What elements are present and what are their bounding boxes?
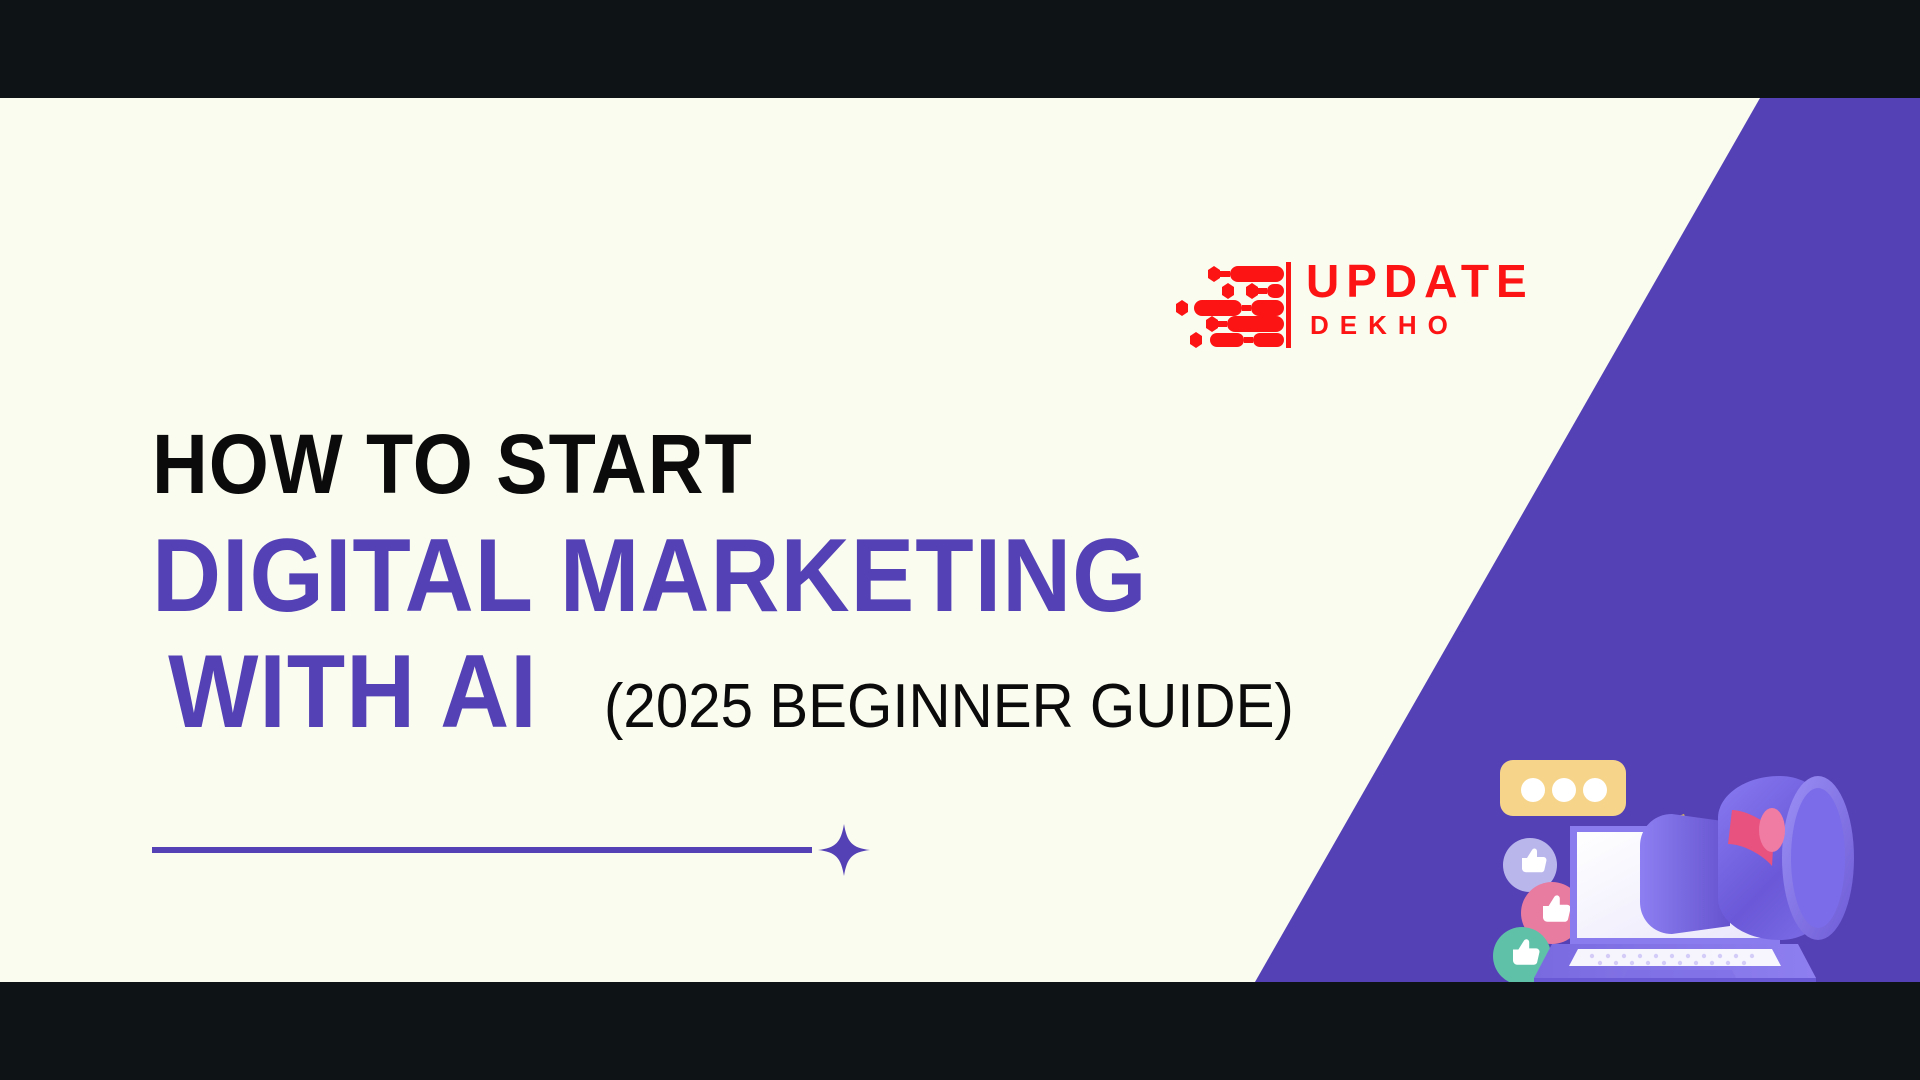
illustration-laptop-megaphone	[1470, 718, 1890, 982]
chat-bubble-icon	[1500, 760, 1626, 816]
brand-logo[interactable]: UPDATE DEKHO	[1170, 256, 1540, 348]
divider-svg	[152, 820, 872, 880]
headline-block: HOW TO START DIGITAL MARKETING WITH AI (…	[152, 418, 1316, 763]
banner-stage: UPDATE DEKHO HOW TO START DIGITAL MARKET…	[0, 98, 1920, 982]
megaphone-icon	[1640, 776, 1854, 940]
illustration-svg	[1470, 718, 1890, 982]
pixel-data-stream-icon	[1170, 256, 1298, 348]
sparkle-icon	[818, 824, 870, 876]
headline-subtitle-paren: (2025 BEGINNER GUIDE)	[604, 651, 1294, 763]
divider-with-sparkle	[152, 820, 872, 880]
headline-line-3: WITH AI (2025 BEGINNER GUIDE)	[152, 636, 1316, 763]
logo-wordmark: UPDATE DEKHO	[1306, 256, 1534, 340]
headline-line-2: DIGITAL MARKETING	[152, 520, 1223, 632]
letterbox-bottom	[0, 982, 1920, 1080]
banner-canvas: UPDATE DEKHO HOW TO START DIGITAL MARKET…	[0, 0, 1920, 1080]
divider-line	[152, 847, 812, 853]
logo-word-dekho: DEKHO	[1310, 310, 1534, 340]
headline-line-1: HOW TO START	[152, 418, 1223, 510]
headline-with-ai: WITH AI	[168, 636, 538, 748]
letterbox-top	[0, 0, 1920, 98]
logo-word-update: UPDATE	[1306, 258, 1534, 304]
